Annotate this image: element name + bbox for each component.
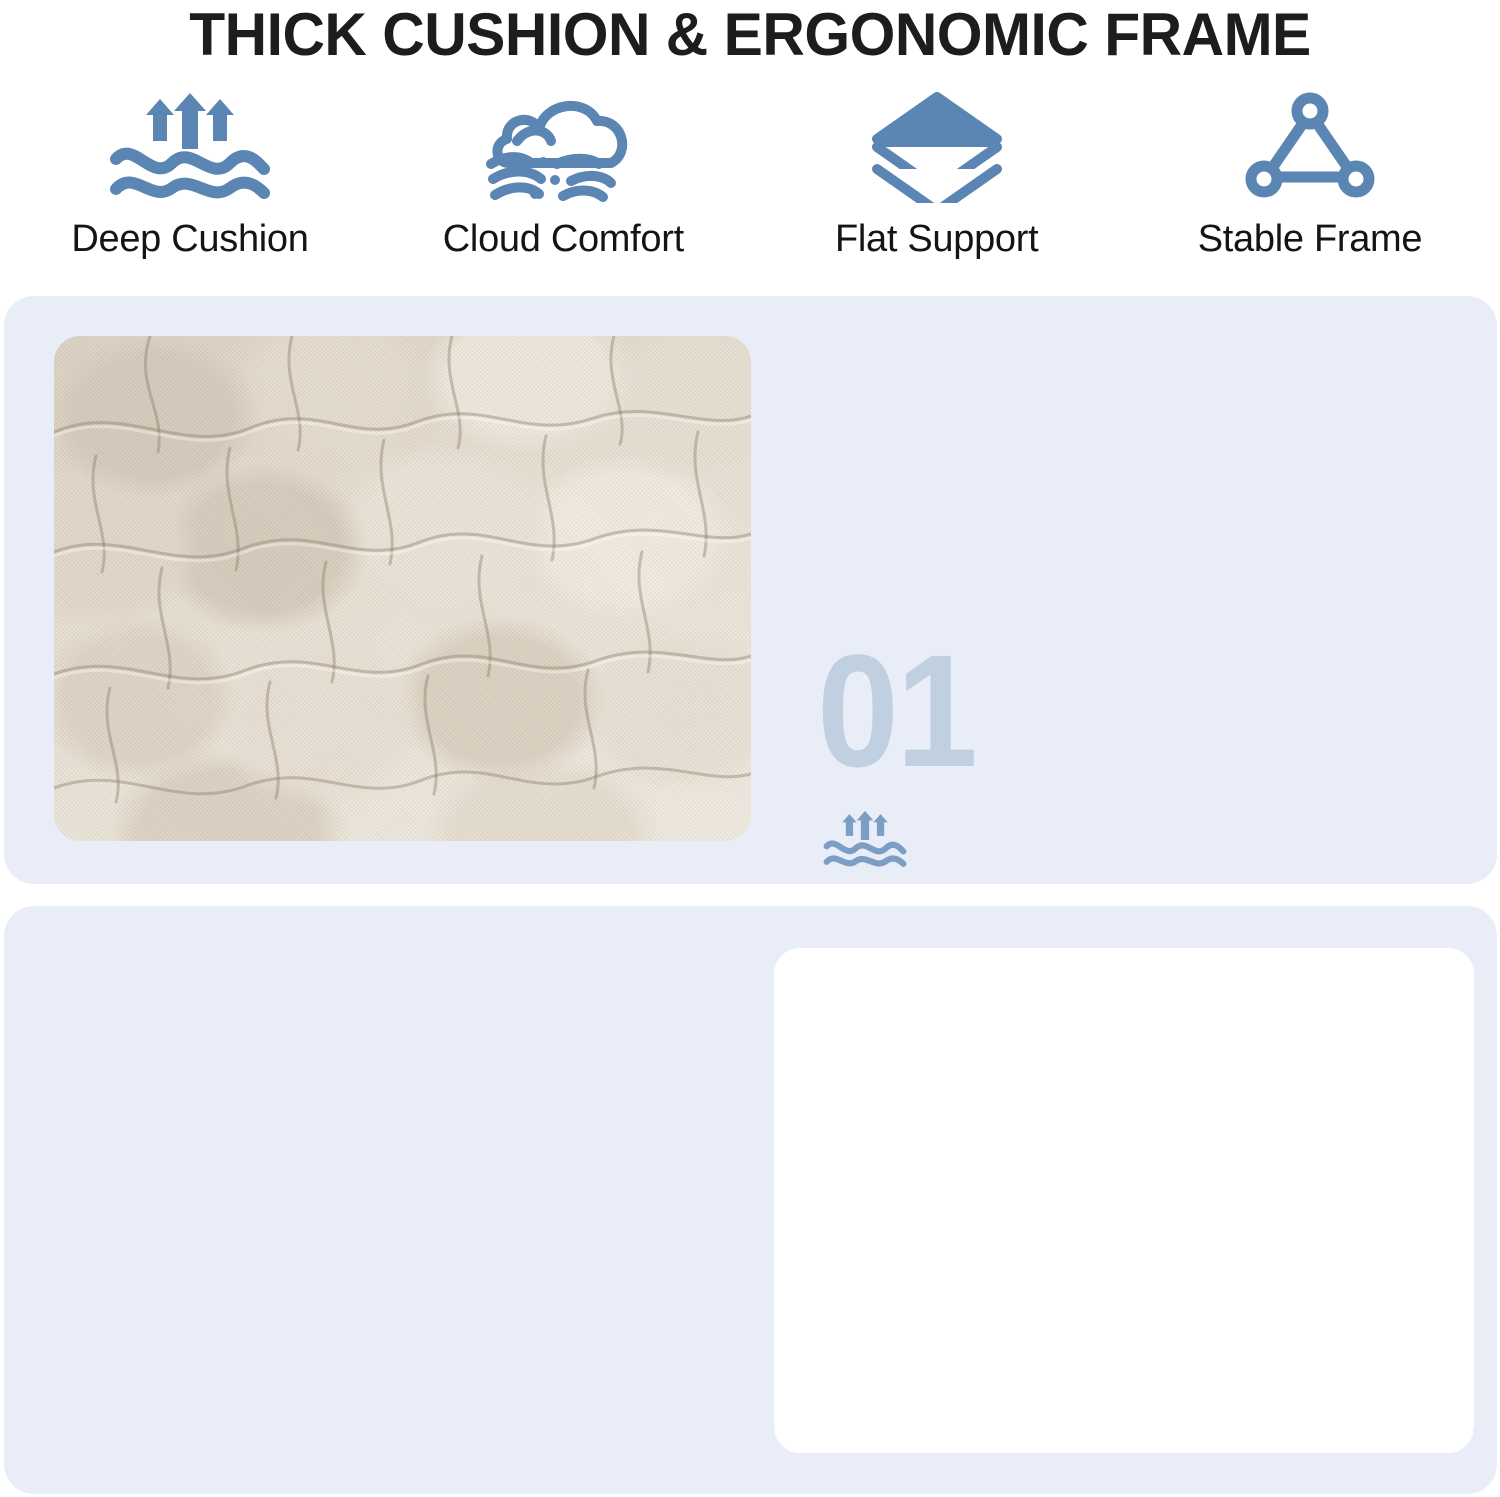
feature-label: Cloud Comfort xyxy=(443,218,684,261)
deep-cushion-icon xyxy=(817,810,1457,868)
page-title: THICK CUSHION & ERGONOMIC FRAME xyxy=(15,0,1485,74)
card-number: 01 xyxy=(817,636,1406,786)
flat-support-icon xyxy=(847,88,1027,206)
cloud-comfort-icon xyxy=(473,88,653,206)
feature-label: Deep Cushion xyxy=(71,218,308,261)
feature-cloud-comfort: Cloud Comfort xyxy=(413,88,713,261)
feature-label: Flat Support xyxy=(835,218,1038,261)
stable-frame-icon xyxy=(1220,88,1400,206)
frame-joint-photo xyxy=(774,948,1474,1453)
deep-cushion-icon xyxy=(100,88,280,206)
feature-stable-frame: Stable Frame xyxy=(1160,88,1460,261)
cushion-photo xyxy=(54,336,751,841)
feature-deep-cushion: Deep Cushion xyxy=(40,88,340,261)
feature-flat-support: Flat Support xyxy=(787,88,1087,261)
feature-card-01: 01 5.2" THICK CUSHION Extra-deep padding… xyxy=(4,296,1497,884)
card-01-text: 01 5.2" THICK CUSHION Extra-deep padding… xyxy=(817,636,1457,884)
feature-card-02: 02 304 STAINLESS STEEL Rustproof. Vibrat… xyxy=(4,906,1497,1494)
feature-badge-row: Deep Cushion xyxy=(40,88,1460,261)
feature-label: Stable Frame xyxy=(1198,218,1423,261)
